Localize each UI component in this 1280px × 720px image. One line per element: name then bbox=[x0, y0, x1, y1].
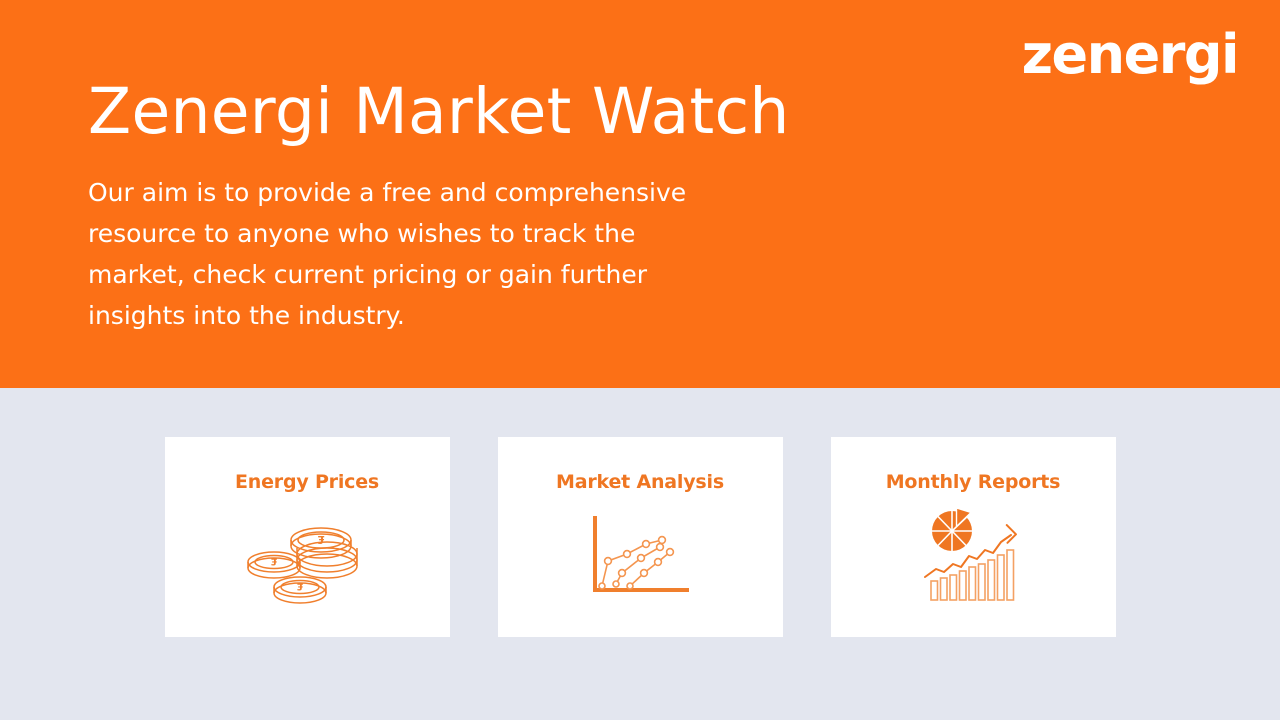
svg-text:£: £ bbox=[317, 533, 325, 546]
cards-section: Energy Prices £ bbox=[0, 388, 1280, 720]
pie-chart-bar-chart-icon bbox=[908, 508, 1038, 604]
card-energy-prices[interactable]: Energy Prices £ bbox=[165, 437, 450, 637]
zenergi-logo[interactable]: zenergi bbox=[1022, 28, 1238, 82]
card-market-analysis[interactable]: Market Analysis bbox=[498, 437, 783, 637]
svg-text:£: £ bbox=[296, 581, 303, 592]
card-title: Monthly Reports bbox=[886, 473, 1061, 492]
coins-stack-pound-icon: £ £ £ bbox=[242, 508, 372, 604]
cards-row: Energy Prices £ bbox=[165, 437, 1116, 637]
hero-content: Zenergi Market Watch Our aim is to provi… bbox=[88, 78, 848, 336]
card-monthly-reports[interactable]: Monthly Reports bbox=[831, 437, 1116, 637]
line-chart-icon bbox=[575, 508, 705, 604]
card-title: Market Analysis bbox=[556, 473, 724, 492]
hero-banner: zenergi Zenergi Market Watch Our aim is … bbox=[0, 0, 1280, 388]
hero-subtitle: Our aim is to provide a free and compreh… bbox=[88, 172, 728, 336]
card-title: Energy Prices bbox=[235, 473, 379, 492]
page-title: Zenergi Market Watch bbox=[88, 78, 848, 146]
svg-text:£: £ bbox=[270, 556, 277, 567]
